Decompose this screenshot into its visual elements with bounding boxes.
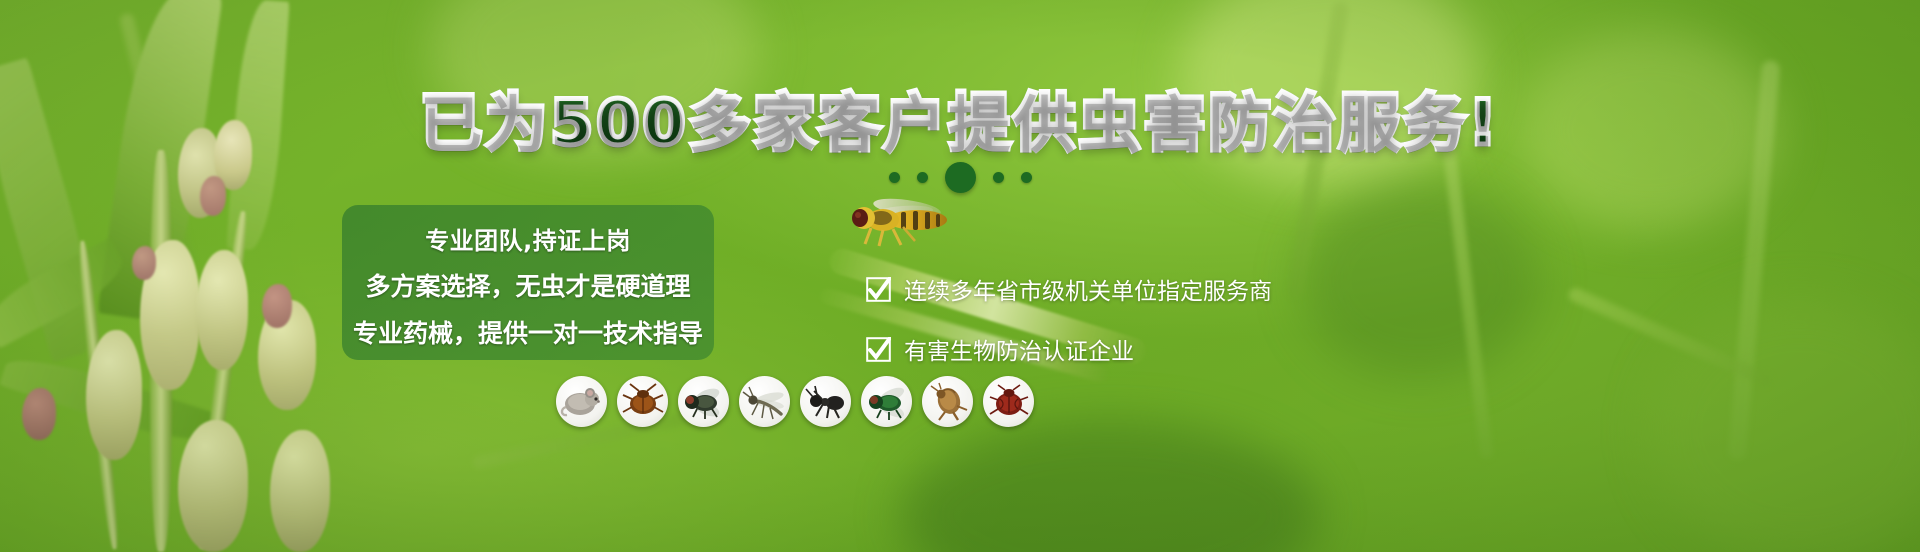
page-title: 已为500多家客户提供虫害防治服务! — [0, 72, 1920, 162]
decorative-dot-row — [0, 162, 1920, 193]
pest-icon-row — [556, 376, 1034, 427]
feature-line-3: 专业药械，提供一对一技术指导 — [353, 314, 703, 350]
list-item: 有害生物防治认证企业 — [866, 332, 1272, 366]
decor-dot-small — [917, 172, 928, 183]
decor-dot-large — [945, 162, 976, 193]
mosquito-icon — [739, 376, 790, 427]
decor-dot-small — [993, 172, 1004, 183]
promo-banner: 已为500多家客户提供虫害防治服务! 专业团队,持证上岗 多方案选择，无虫才是硬… — [0, 0, 1920, 552]
checkbox-checked-icon — [866, 277, 891, 302]
page-title-text: 已为500多家客户提供虫害防治服务! — [420, 86, 1500, 159]
bedbug-icon — [983, 376, 1034, 427]
credential-label: 连续多年省市级机关单位指定服务商 — [904, 272, 1272, 306]
decor-dot-small — [1021, 172, 1032, 183]
credential-label: 有害生物防治认证企业 — [904, 332, 1134, 366]
feature-line-2: 多方案选择，无虫才是硬道理 — [365, 267, 690, 303]
greenbottle-fly-icon — [861, 376, 912, 427]
housefly-icon — [678, 376, 729, 427]
feature-panel: 专业团队,持证上岗 多方案选择，无虫才是硬道理 专业药械，提供一对一技术指导 — [342, 205, 714, 360]
ant-icon — [800, 376, 851, 427]
flea-icon — [922, 376, 973, 427]
hoverfly-photo — [845, 196, 965, 252]
checkbox-checked-icon — [866, 337, 891, 362]
feature-line-1: 专业团队,持证上岗 — [425, 221, 631, 256]
list-item: 连续多年省市级机关单位指定服务商 — [866, 272, 1272, 306]
credentials-list: 连续多年省市级机关单位指定服务商 有害生物防治认证企业 — [866, 272, 1272, 392]
mouse-icon — [556, 376, 607, 427]
cockroach-icon — [617, 376, 668, 427]
decor-dot-small — [889, 172, 900, 183]
